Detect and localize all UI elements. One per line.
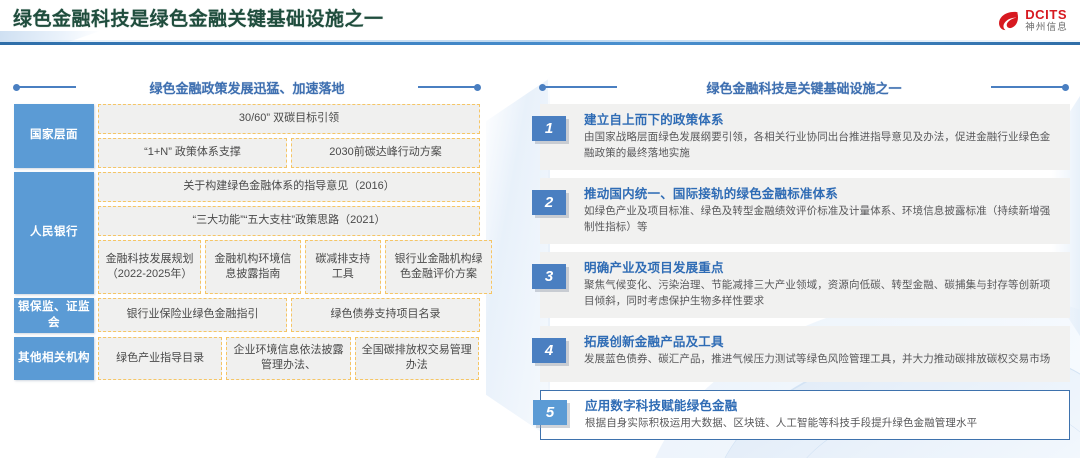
slide-header: 绿色金融科技是绿色金融关键基础设施之一 (0, 0, 1080, 44)
point-number-badge: 1 (532, 116, 566, 141)
point-body: 建立自上而下的政策体系 由国家战略层面绿色发展纲要引领，各相关行业协同出台推进指… (584, 111, 1060, 162)
row-label-other-agencies: 其他相关机构 (14, 337, 94, 380)
list-item[interactable]: 3 明确产业及项目发展重点 聚焦气候变化、污染治理、节能减排三大产业领域，资源向… (540, 252, 1070, 318)
list-item[interactable]: 4 拓展创新金融产品及工具 发展蓝色债券、碳汇产品，推进气候压力测试等绿色风险管… (540, 326, 1070, 382)
key-points-list: 1 建立自上而下的政策体系 由国家战略层面绿色发展纲要引领，各相关行业协同出台推… (540, 104, 1070, 440)
point-title: 推动国内统一、国际接轨的绿色金融标准体系 (584, 185, 1060, 203)
cell-line: “三大功能”“五大支柱”政策思路（2021） (98, 206, 480, 236)
row-body: 30/60” 双碳目标引领 “1+N” 政策体系支撑 2030前碳达峰行动方案 (98, 104, 480, 168)
row-body: 关于构建绿色金融体系的指导意见（2016） “三大功能”“五大支柱”政策思路（2… (98, 172, 480, 294)
company-logo: DCITS 神州信息 (997, 6, 1068, 34)
policy-cell[interactable]: “1+N” 政策体系支撑 (98, 138, 287, 168)
policy-cell[interactable]: 金融科技发展规划（2022-2025年） (98, 240, 201, 294)
row-label-national: 国家层面 (14, 104, 94, 168)
policy-cell[interactable]: 银行业金融机构绿色金融评价方案 (385, 240, 492, 294)
cell-line: 金融科技发展规划（2022-2025年） 金融机构环境信息披露指南 碳减排支持工… (98, 240, 480, 294)
cell-line: 银行业保险业绿色金融指引 绿色债券支持项目名录 (98, 298, 480, 332)
point-description: 发展蓝色债券、碳汇产品，推进气候压力测试等绿色风险管理工具，并大力推动碳排放碳权… (584, 352, 1060, 368)
cell-line: 关于构建绿色金融体系的指导意见（2016） (98, 172, 480, 202)
right-section-header: 绿色金融科技是关键基础设施之一 (540, 76, 1068, 98)
row-label-cbirc-csrc: 银保监、证监会 (14, 298, 94, 333)
header-line-right (418, 86, 480, 88)
point-number-badge: 3 (532, 264, 566, 289)
dcits-swoosh-icon (997, 9, 1020, 32)
point-number-badge: 4 (532, 338, 566, 363)
policy-cell[interactable]: 企业环境信息依法披露管理办法、 (226, 337, 350, 380)
header-line-right (991, 86, 1068, 88)
point-description: 由国家战略层面绿色发展纲要引领，各相关行业协同出台推进指导意见及办法，促进金融行… (584, 130, 1060, 162)
point-title: 建立自上而下的政策体系 (584, 111, 1060, 129)
cell-line: 绿色产业指导目录 企业环境信息依法披露管理办法、 全国碳排放权交易管理办法 (98, 337, 480, 380)
row-body: 绿色产业指导目录 企业环境信息依法披露管理办法、 全国碳排放权交易管理办法 (98, 337, 480, 380)
table-row: 国家层面 30/60” 双碳目标引领 “1+N” 政策体系支撑 2030前碳达峰… (14, 104, 480, 168)
cell-line: “1+N” 政策体系支撑 2030前碳达峰行动方案 (98, 138, 480, 168)
table-row: 银保监、证监会 银行业保险业绿色金融指引 绿色债券支持项目名录 (14, 298, 480, 333)
logo-name-en: DCITS (1025, 8, 1068, 21)
list-item-highlighted[interactable]: 5 应用数字科技赋能绿色金融 根据自身实际积极运用大数据、区块链、人工智能等科技… (540, 390, 1070, 440)
point-description: 聚焦气候变化、污染治理、节能减排三大产业领域，资源向低碳、转型金融、碳捕集与封存… (584, 278, 1060, 310)
point-body: 应用数字科技赋能绿色金融 根据自身实际积极运用大数据、区块链、人工智能等科技手段… (585, 397, 1059, 432)
logo-text: DCITS 神州信息 (1025, 8, 1068, 33)
right-section-title: 绿色金融科技是关键基础设施之一 (695, 78, 914, 97)
row-body: 银行业保险业绿色金融指引 绿色债券支持项目名录 (98, 298, 480, 333)
cell-line: 30/60” 双碳目标引领 (98, 104, 480, 134)
point-title: 明确产业及项目发展重点 (584, 259, 1060, 277)
list-item[interactable]: 2 推动国内统一、国际接轨的绿色金融标准体系 如绿色产业及项目标准、绿色及转型金… (540, 178, 1070, 244)
point-description: 如绿色产业及项目标准、绿色及转型金融绩效评价标准及计量体系、环境信息披露标准（持… (584, 204, 1060, 236)
policy-cell[interactable]: 2030前碳达峰行动方案 (291, 138, 480, 168)
logo-name-cn: 神州信息 (1025, 23, 1068, 33)
page-title: 绿色金融科技是绿色金融关键基础设施之一 (13, 4, 384, 31)
table-row: 其他相关机构 绿色产业指导目录 企业环境信息依法披露管理办法、 全国碳排放权交易… (14, 337, 480, 380)
policy-table: 国家层面 30/60” 双碳目标引领 “1+N” 政策体系支撑 2030前碳达峰… (14, 104, 480, 380)
table-row: 人民银行 关于构建绿色金融体系的指导意见（2016） “三大功能”“五大支柱”政… (14, 172, 480, 294)
policy-cell[interactable]: 绿色债券支持项目名录 (291, 298, 480, 332)
point-description: 根据自身实际积极运用大数据、区块链、人工智能等科技手段提升绿色金融管理水平 (585, 416, 1059, 432)
policy-cell[interactable]: “三大功能”“五大支柱”政策思路（2021） (98, 206, 480, 236)
policy-cell[interactable]: 碳减排支持工具 (305, 240, 381, 294)
title-rule (0, 42, 1080, 45)
point-body: 拓展创新金融产品及工具 发展蓝色债券、碳汇产品，推进气候压力测试等绿色风险管理工… (584, 333, 1060, 368)
header-line-left (540, 86, 617, 88)
point-number-badge: 5 (533, 400, 567, 425)
row-label-pboc: 人民银行 (14, 172, 94, 294)
point-body: 推动国内统一、国际接轨的绿色金融标准体系 如绿色产业及项目标准、绿色及转型金融绩… (584, 185, 1060, 236)
list-item[interactable]: 1 建立自上而下的政策体系 由国家战略层面绿色发展纲要引领，各相关行业协同出台推… (540, 104, 1070, 170)
policy-cell[interactable]: 绿色产业指导目录 (98, 337, 222, 380)
point-title: 拓展创新金融产品及工具 (584, 333, 1060, 351)
left-section-title: 绿色金融政策发展迅猛、加速落地 (138, 78, 357, 97)
point-body: 明确产业及项目发展重点 聚焦气候变化、污染治理、节能减排三大产业领域，资源向低碳… (584, 259, 1060, 310)
point-title: 应用数字科技赋能绿色金融 (585, 397, 1059, 415)
policy-cell[interactable]: 金融机构环境信息披露指南 (205, 240, 301, 294)
left-section-header: 绿色金融政策发展迅猛、加速落地 (14, 76, 480, 98)
point-number-badge: 2 (532, 190, 566, 215)
header-line-left (14, 86, 76, 88)
policy-cell[interactable]: 银行业保险业绿色金融指引 (98, 298, 287, 332)
policy-cell[interactable]: 全国碳排放权交易管理办法 (355, 337, 479, 380)
policy-cell[interactable]: 关于构建绿色金融体系的指导意见（2016） (98, 172, 480, 202)
policy-cell[interactable]: 30/60” 双碳目标引领 (98, 104, 480, 134)
